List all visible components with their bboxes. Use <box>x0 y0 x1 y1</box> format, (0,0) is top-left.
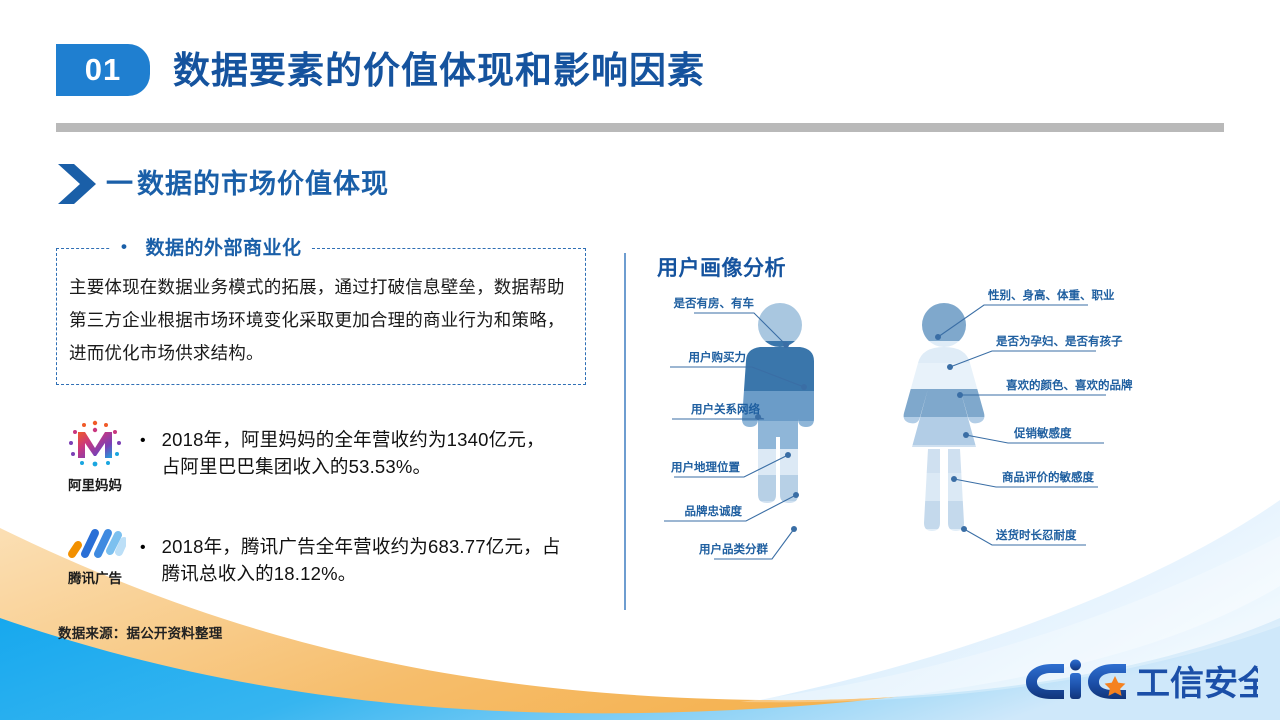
tencent-ads-logo-icon <box>64 525 126 565</box>
persona-label-right-3: 促销敏感度 <box>1013 426 1072 440</box>
callout-title: 数据的外部商业化 <box>145 238 301 259</box>
brand-stat-row-alimama: 阿里妈妈 • 2018年，阿里妈妈的全年营收约为1340亿元，占阿里巴巴集团收入… <box>56 418 601 494</box>
data-source-note: 数据来源：据公开资料整理 <box>58 622 222 642</box>
persona-label-right-5: 送货时长忍耐度 <box>995 528 1077 542</box>
left-content-column: •数据的外部商业化 主要体现在数据业务模式的拓展，通过打破信息壁垒，数据帮助第三… <box>56 248 586 385</box>
section-marker: 一 <box>106 171 133 198</box>
callout-title-row: •数据的外部商业化 <box>111 233 311 260</box>
alimama-brand-name: 阿里妈妈 <box>68 474 122 494</box>
persona-label-left-3: 用户地理位置 <box>670 460 740 474</box>
section-title: 数据的市场价值体现 <box>137 171 389 198</box>
callout-bullet-icon: • <box>121 237 127 256</box>
column-divider <box>624 253 626 610</box>
alimama-logo-icon <box>66 418 124 472</box>
alimama-stat-text: 2018年，阿里妈妈的全年营收约为1340亿元，占阿里巴巴集团收入的53.53%… <box>162 418 562 480</box>
cic-logo-text: 工信安全 <box>1136 664 1258 703</box>
persona-label-left-5: 用户品类分群 <box>698 542 768 556</box>
tencent-brand-name: 腾讯广告 <box>68 567 122 587</box>
slide-header: 01 数据要素的价值体现和影响因素 <box>56 44 705 96</box>
user-persona-diagram: 是否有房、有车 用户购买力 用户关系网络 用户地理位置 品牌忠诚度 用户品类分群… <box>636 283 1226 583</box>
header-divider-rule <box>56 123 1224 132</box>
slide-canvas: 01 数据要素的价值体现和影响因素 一 数据的市场价值体现 •数据的外部商业化 … <box>0 0 1280 720</box>
section-heading: 一 数据的市场价值体现 <box>56 160 389 208</box>
persona-label-left-0: 是否有房、有车 <box>673 296 755 310</box>
alimama-bullet-icon: • <box>140 418 146 450</box>
tencent-bullet-icon: • <box>140 525 146 557</box>
persona-label-right-4: 商品评价的敏感度 <box>1002 470 1094 484</box>
female-persona-figure <box>886 301 1006 553</box>
tencent-brand-cell: 腾讯广告 <box>56 525 134 587</box>
tencent-stat-text: 2018年，腾讯广告全年营收约为683.77亿元，占腾讯总收入的18.12%。 <box>162 525 562 587</box>
chevron-right-icon <box>56 160 100 208</box>
alimama-brand-cell: 阿里妈妈 <box>56 418 134 494</box>
page-title: 数据要素的价值体现和影响因素 <box>173 52 705 89</box>
section-number-badge: 01 <box>56 44 150 96</box>
male-persona-figure <box>731 301 841 551</box>
commercialization-callout-box: •数据的外部商业化 主要体现在数据业务模式的拓展，通过打破信息壁垒，数据帮助第三… <box>56 248 586 385</box>
persona-label-left-1: 用户购买力 <box>688 350 747 364</box>
cic-company-logo: 工信安全 <box>1018 652 1258 708</box>
brand-stat-row-tencent: 腾讯广告 • 2018年，腾讯广告全年营收约为683.77亿元，占腾讯总收入的1… <box>56 525 601 587</box>
callout-body-text: 主要体现在数据业务模式的拓展，通过打破信息壁垒，数据帮助第三方企业根据市场环境变… <box>69 271 571 370</box>
persona-analysis-title: 用户画像分析 <box>657 252 786 282</box>
persona-label-left-2: 用户关系网络 <box>690 402 760 416</box>
persona-label-right-1: 是否为孕妇、是否有孩子 <box>995 334 1123 348</box>
persona-label-left-4: 品牌忠诚度 <box>685 504 743 518</box>
persona-label-right-2: 喜欢的颜色、喜欢的品牌 <box>1006 378 1133 392</box>
persona-label-right-0: 性别、身高、体重、职业 <box>988 288 1115 302</box>
